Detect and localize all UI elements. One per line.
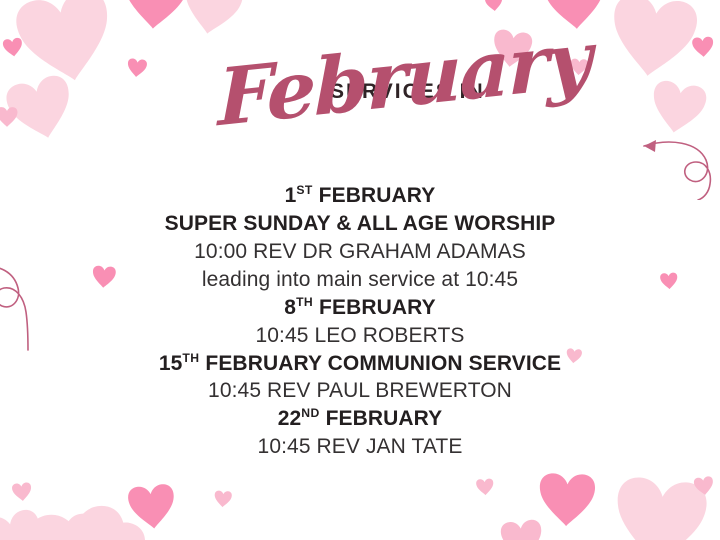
heart-top-mid-pale-icon bbox=[177, 0, 246, 41]
heart-bottom-center-big-icon bbox=[537, 471, 597, 529]
service-line-date-22-feb: 22ND FEBRUARY bbox=[0, 405, 720, 433]
heart-bottom-right-tiny-icon bbox=[693, 475, 716, 498]
heart-bottom-left-tiny-icon bbox=[11, 481, 33, 503]
service-day-number: 1 bbox=[285, 184, 297, 207]
poster-heading: SERVICES IN February bbox=[0, 66, 720, 176]
heart-top-center-tiny-icon bbox=[126, 57, 148, 79]
service-line-jan-tate: 10:45 REV JAN TATE bbox=[0, 433, 720, 461]
poster-canvas: SERVICES IN February 1ST FEBRUARYSUPER S… bbox=[0, 0, 720, 540]
service-line-paul-brewerton: 10:45 REV PAUL BREWERTON bbox=[0, 377, 720, 405]
heart-top-right-dot-icon bbox=[484, 0, 504, 13]
heart-right-mid-icon bbox=[646, 78, 710, 139]
heart-bottom-center-strong-icon bbox=[126, 482, 179, 533]
heading-script-word: February bbox=[218, 21, 590, 139]
service-day-ordinal: TH bbox=[182, 351, 199, 365]
service-day-ordinal: ST bbox=[296, 183, 312, 197]
heart-bottom-left-lower-icon bbox=[498, 518, 546, 540]
heart-bottom-center-tiny-icon bbox=[475, 477, 494, 496]
heart-right-tiny-icon bbox=[569, 57, 588, 76]
service-day-number: 15 bbox=[159, 352, 183, 375]
service-day-number: 8 bbox=[284, 296, 296, 319]
service-line-rest: FEBRUARY bbox=[313, 184, 436, 207]
services-list: 1ST FEBRUARYSUPER SUNDAY & ALL AGE WORSH… bbox=[0, 182, 720, 461]
service-line-leading-into: leading into main service at 10:45 bbox=[0, 266, 720, 294]
heart-bottom-mid-dot-icon bbox=[213, 489, 232, 508]
heart-top-far-right-small-icon bbox=[691, 35, 714, 58]
service-line-graham-adamas: 10:00 REV DR GRAHAM ADAMAS bbox=[0, 238, 720, 266]
service-line-date-8-feb: 8TH FEBRUARY bbox=[0, 294, 720, 322]
heart-left-edge-small-icon bbox=[0, 106, 18, 128]
service-line-rest: FEBRUARY bbox=[320, 407, 443, 430]
service-line-super-sunday: SUPER SUNDAY & ALL AGE WORSHIP bbox=[0, 210, 720, 238]
service-line-rest: FEBRUARY COMMUNION SERVICE bbox=[199, 352, 561, 375]
service-line-date-15-feb: 15TH FEBRUARY COMMUNION SERVICE bbox=[0, 350, 720, 378]
heart-top-right-strong-icon bbox=[542, 0, 608, 34]
service-day-ordinal: TH bbox=[296, 295, 313, 309]
heart-top-left-small-icon bbox=[2, 37, 24, 59]
service-line-date-1-feb: 1ST FEBRUARY bbox=[0, 182, 720, 210]
service-line-leo-roberts: 10:45 LEO ROBERTS bbox=[0, 322, 720, 350]
heart-top-right-mid-icon bbox=[490, 27, 535, 70]
service-line-rest: FEBRUARY bbox=[313, 296, 436, 319]
service-day-ordinal: ND bbox=[301, 406, 319, 420]
heading-kicker: SERVICES IN bbox=[330, 80, 485, 104]
service-day-number: 22 bbox=[278, 407, 302, 430]
heart-top-right-large-icon bbox=[603, 0, 704, 84]
